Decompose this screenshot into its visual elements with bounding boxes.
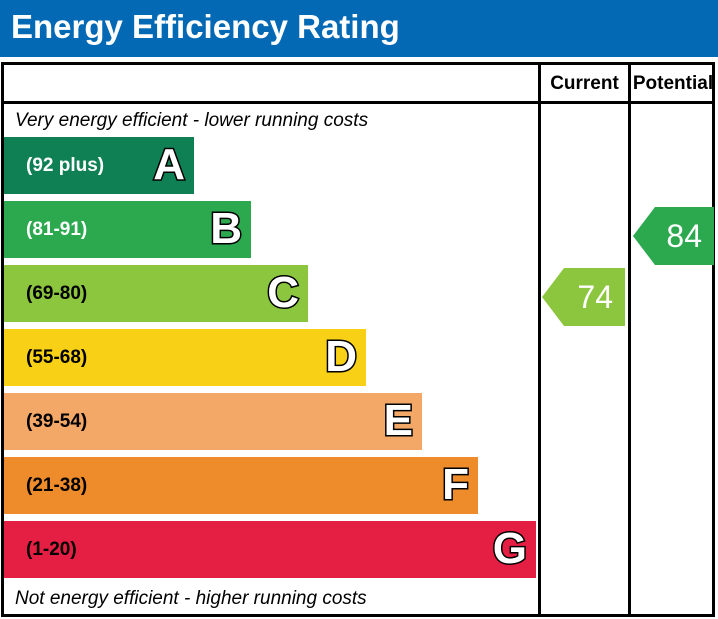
rating-band-d-letter: D <box>325 329 357 386</box>
rating-band-e-letter: E <box>384 393 413 450</box>
page-title: Energy Efficiency Rating <box>11 6 400 48</box>
column-header-current: Current <box>541 71 628 97</box>
rating-band-a-range: (92 plus) <box>26 137 104 194</box>
rating-band-a-letter: A <box>153 137 185 194</box>
rating-bands-list: (92 plus) A (81-91) B (69-80) C (55-68) … <box>4 137 538 580</box>
rating-band-d-range: (55-68) <box>26 329 87 386</box>
rating-band-e: (39-54) E <box>4 393 422 450</box>
rating-band-b: (81-91) B <box>4 201 251 258</box>
rating-band-c: (69-80) C <box>4 265 308 322</box>
current-rating-value: 74 <box>577 279 613 315</box>
rating-band-f-letter: F <box>442 457 469 514</box>
rating-band-a: (92 plus) A <box>4 137 194 194</box>
rating-band-e-range: (39-54) <box>26 393 87 450</box>
energy-efficiency-rating-chart: Energy Efficiency Rating Current Potenti… <box>0 0 718 619</box>
column-divider-current <box>538 62 541 617</box>
chart-title-bar: Energy Efficiency Rating <box>0 0 718 57</box>
rating-band-d: (55-68) D <box>4 329 366 386</box>
header-row-divider <box>1 101 715 104</box>
rating-band-b-range: (81-91) <box>26 201 87 258</box>
column-divider-potential <box>628 62 631 617</box>
caption-not-efficient: Not energy efficient - higher running co… <box>15 587 367 611</box>
rating-band-f-range: (21-38) <box>26 457 87 514</box>
rating-band-c-letter: C <box>267 265 299 322</box>
rating-band-g-range: (1-20) <box>26 521 77 578</box>
caption-very-efficient: Very energy efficient - lower running co… <box>15 109 368 133</box>
rating-band-f: (21-38) F <box>4 457 478 514</box>
rating-band-b-letter: B <box>210 201 242 258</box>
column-header-potential: Potential <box>631 71 715 97</box>
rating-band-g-letter: G <box>493 521 527 578</box>
rating-band-g: (1-20) G <box>4 521 536 578</box>
rating-band-c-range: (69-80) <box>26 265 87 322</box>
potential-rating-value: 84 <box>666 218 702 254</box>
